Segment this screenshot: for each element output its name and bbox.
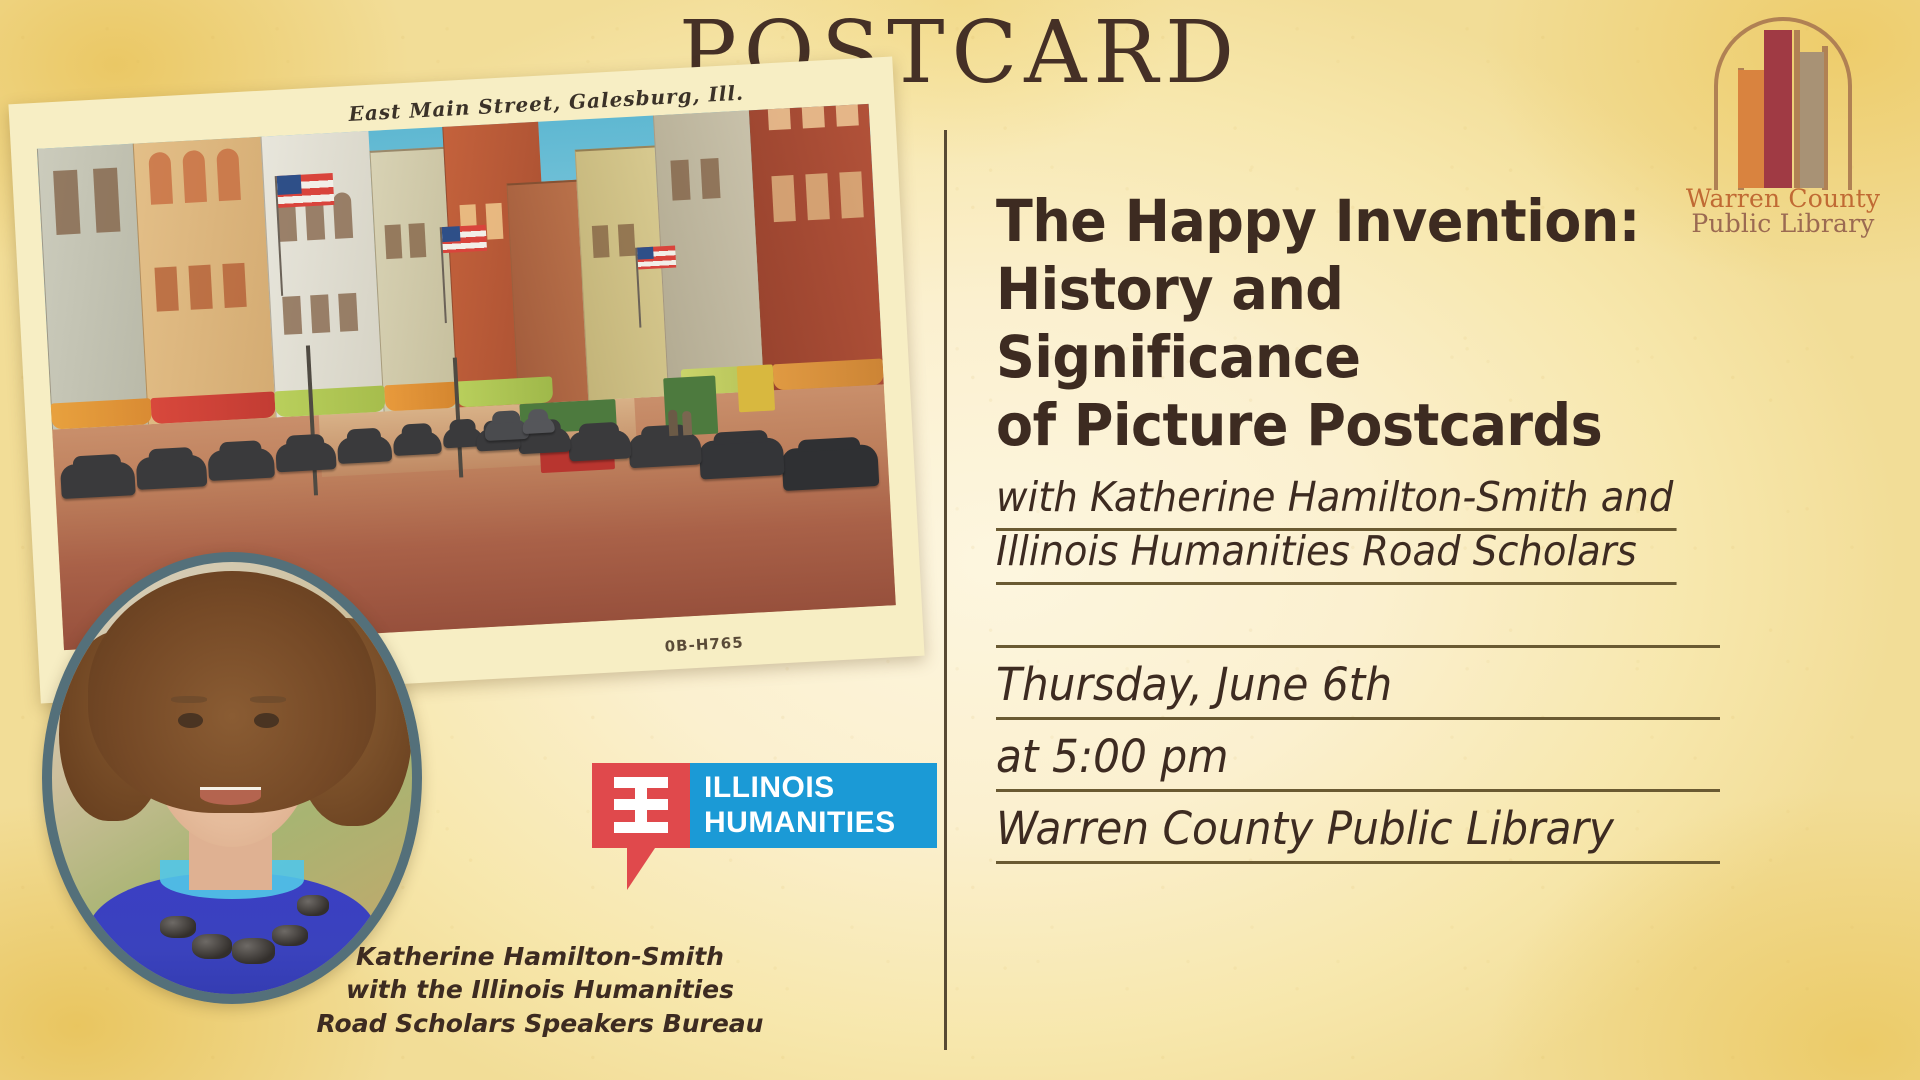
building [129, 104, 275, 425]
event-title-line3: of Picture Postcards [996, 392, 1669, 460]
event-title-line2: History and Significance [996, 256, 1669, 392]
speech-bubble-tail [627, 848, 655, 890]
event-date: Thursday, June 6th [996, 648, 1720, 720]
eye-right [254, 713, 279, 728]
speaker-portrait [42, 552, 422, 1004]
parked-car [136, 455, 208, 491]
postcard-id-code: 0B-H765 [664, 633, 744, 655]
building [575, 146, 668, 401]
awning [384, 382, 457, 412]
building [744, 104, 884, 391]
awning [51, 398, 152, 429]
parked-car [568, 430, 631, 462]
parked-car [393, 431, 442, 457]
parked-car [275, 442, 336, 473]
building [506, 180, 588, 404]
portrait-caption: Katherine Hamilton-Smith with the Illino… [300, 940, 780, 1040]
eye-left [178, 713, 203, 728]
moving-car [522, 417, 555, 435]
vertical-divider [944, 130, 947, 1050]
parked-car [207, 448, 275, 482]
eyebrow-right [250, 696, 286, 703]
speaker-block: with Katherine Hamilton-Smith and Illino… [996, 477, 1720, 585]
flyer-canvas: POSTCARD Warren County Public Library Ea… [0, 0, 1920, 1080]
event-logistics-block: Thursday, June 6th at 5:00 pm Warren Cou… [996, 645, 1720, 864]
parked-car [337, 435, 392, 464]
pedestrian [668, 410, 678, 436]
event-title: The Happy Invention: History and Signifi… [996, 188, 1669, 459]
parked-car [699, 437, 785, 479]
illinois-humanities-wordmark: ILLINOIS HUMANITIES [690, 763, 937, 848]
library-arch-books-icon [1676, 8, 1890, 193]
illinois-humanities-logo: ILLINOIS HUMANITIES [592, 763, 937, 848]
portrait-photo [52, 562, 412, 994]
pedestrian [682, 411, 692, 435]
event-title-line1: The Happy Invention: [996, 188, 1669, 256]
portrait-caption-line3: Road Scholars Speakers Bureau [300, 1007, 780, 1040]
speaker-line2: Illinois Humanities Road Scholars [996, 531, 1677, 585]
event-venue: Warren County Public Library [996, 792, 1720, 864]
hair-top [88, 571, 376, 813]
storefront-sign [737, 365, 775, 413]
ih-line2: HUMANITIES [704, 806, 937, 840]
american-flag-icon [637, 245, 676, 269]
building [259, 111, 383, 418]
american-flag-icon [277, 173, 335, 208]
portrait-caption-line1: Katherine Hamilton-Smith [300, 940, 780, 973]
necklace-bead [297, 895, 329, 917]
speaker-line1: with Katherine Hamilton-Smith and [996, 477, 1677, 531]
eyebrow-left [171, 696, 207, 703]
necklace-bead [192, 934, 232, 960]
parked-car [60, 462, 136, 500]
american-flag-icon [442, 225, 487, 253]
illinois-humanities-speech-bubble-icon [592, 763, 690, 848]
ih-line1: ILLINOIS [704, 771, 937, 805]
event-time: at 5:00 pm [996, 720, 1720, 792]
parked-car [628, 432, 702, 469]
building [37, 104, 148, 430]
parked-car [781, 443, 879, 490]
necklace-bead [232, 938, 275, 964]
necklace-bead [160, 916, 196, 938]
page-title: POSTCARD [0, 8, 1920, 98]
event-details-column: The Happy Invention: History and Signifi… [996, 188, 1720, 864]
portrait-caption-line2: with the Illinois Humanities [300, 973, 780, 1006]
smiling-mouth [200, 787, 261, 805]
